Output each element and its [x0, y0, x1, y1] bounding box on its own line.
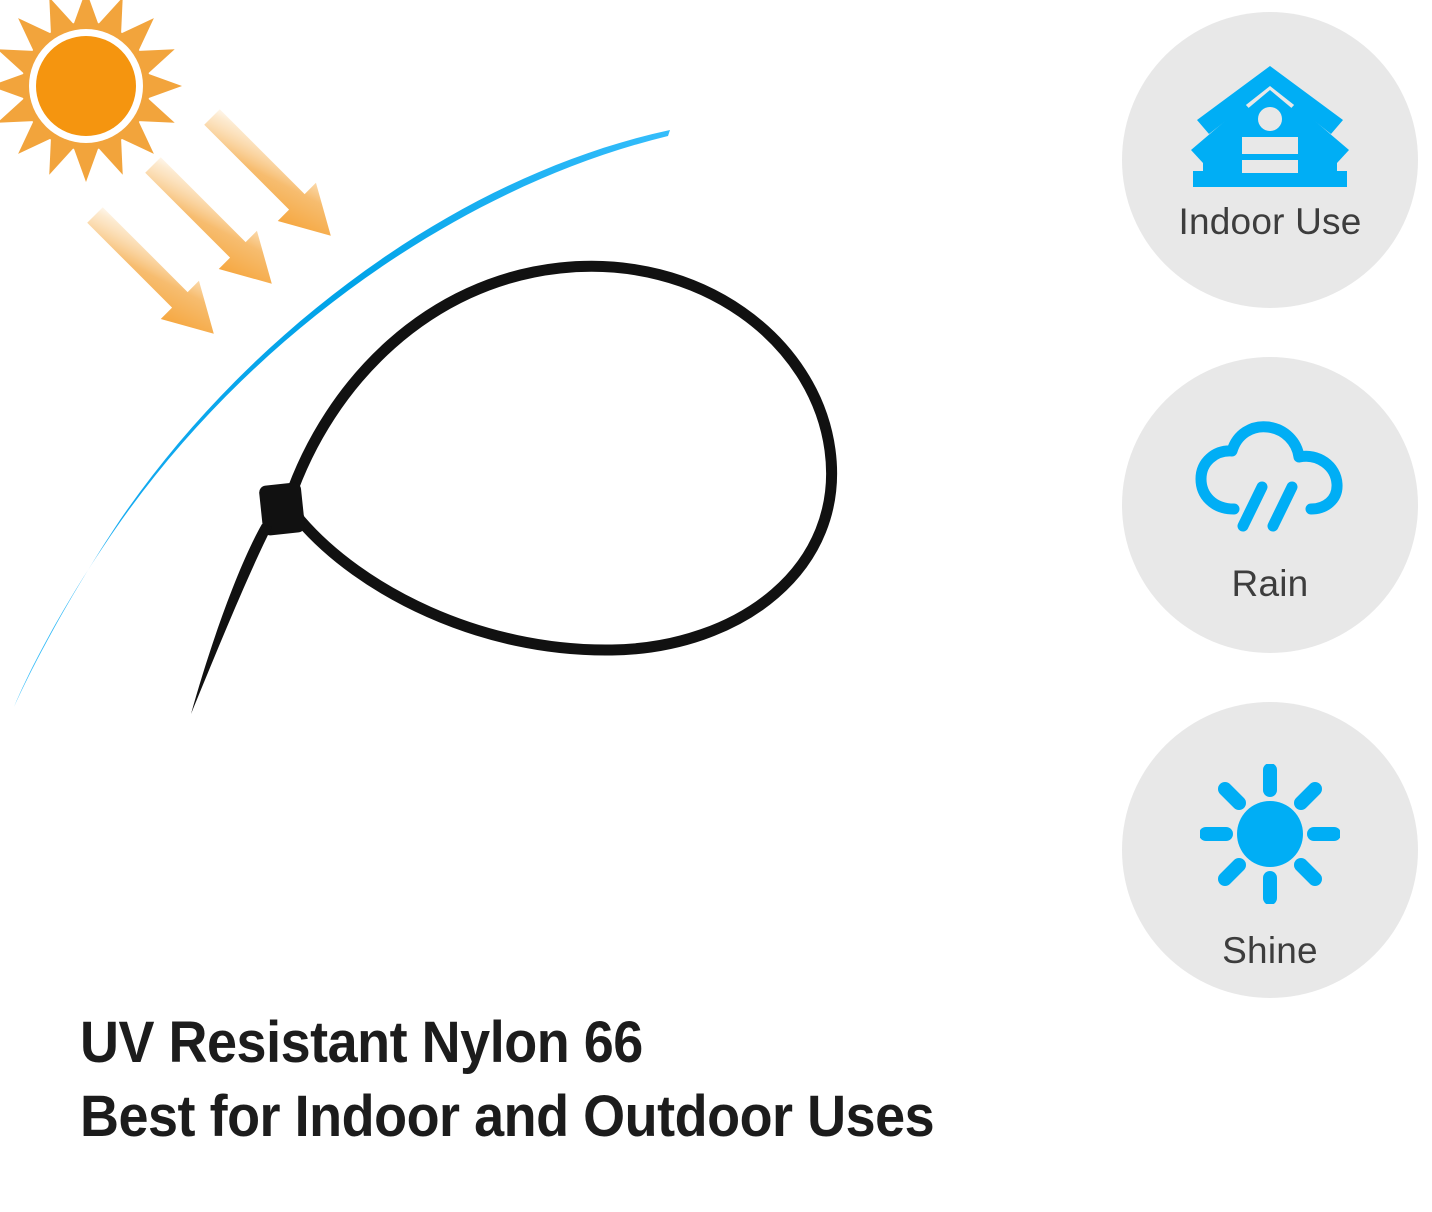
uv-shield-arc	[14, 130, 670, 707]
sun-burst-icon	[0, 0, 182, 182]
badge-rain: Rain	[1122, 357, 1418, 653]
headline-line-1: UV Resistant Nylon 66	[80, 1006, 1010, 1080]
headline-line-2: Best for Indoor and Outdoor Uses	[80, 1080, 1010, 1154]
house-icon	[1185, 64, 1355, 189]
badge-indoor-use: Indoor Use	[1122, 12, 1418, 308]
product-infographic: Indoor Use Rain Shin	[0, 0, 1432, 1212]
badge-shine: Shine	[1122, 702, 1418, 998]
sun-shine-icon	[1200, 764, 1340, 904]
rain-cloud-icon	[1190, 421, 1350, 539]
badge-label: Indoor Use	[1179, 203, 1362, 240]
headline-block: UV Resistant Nylon 66 Best for Indoor an…	[80, 1006, 1080, 1154]
badge-label: Rain	[1232, 565, 1309, 602]
badge-label: Shine	[1222, 932, 1318, 969]
